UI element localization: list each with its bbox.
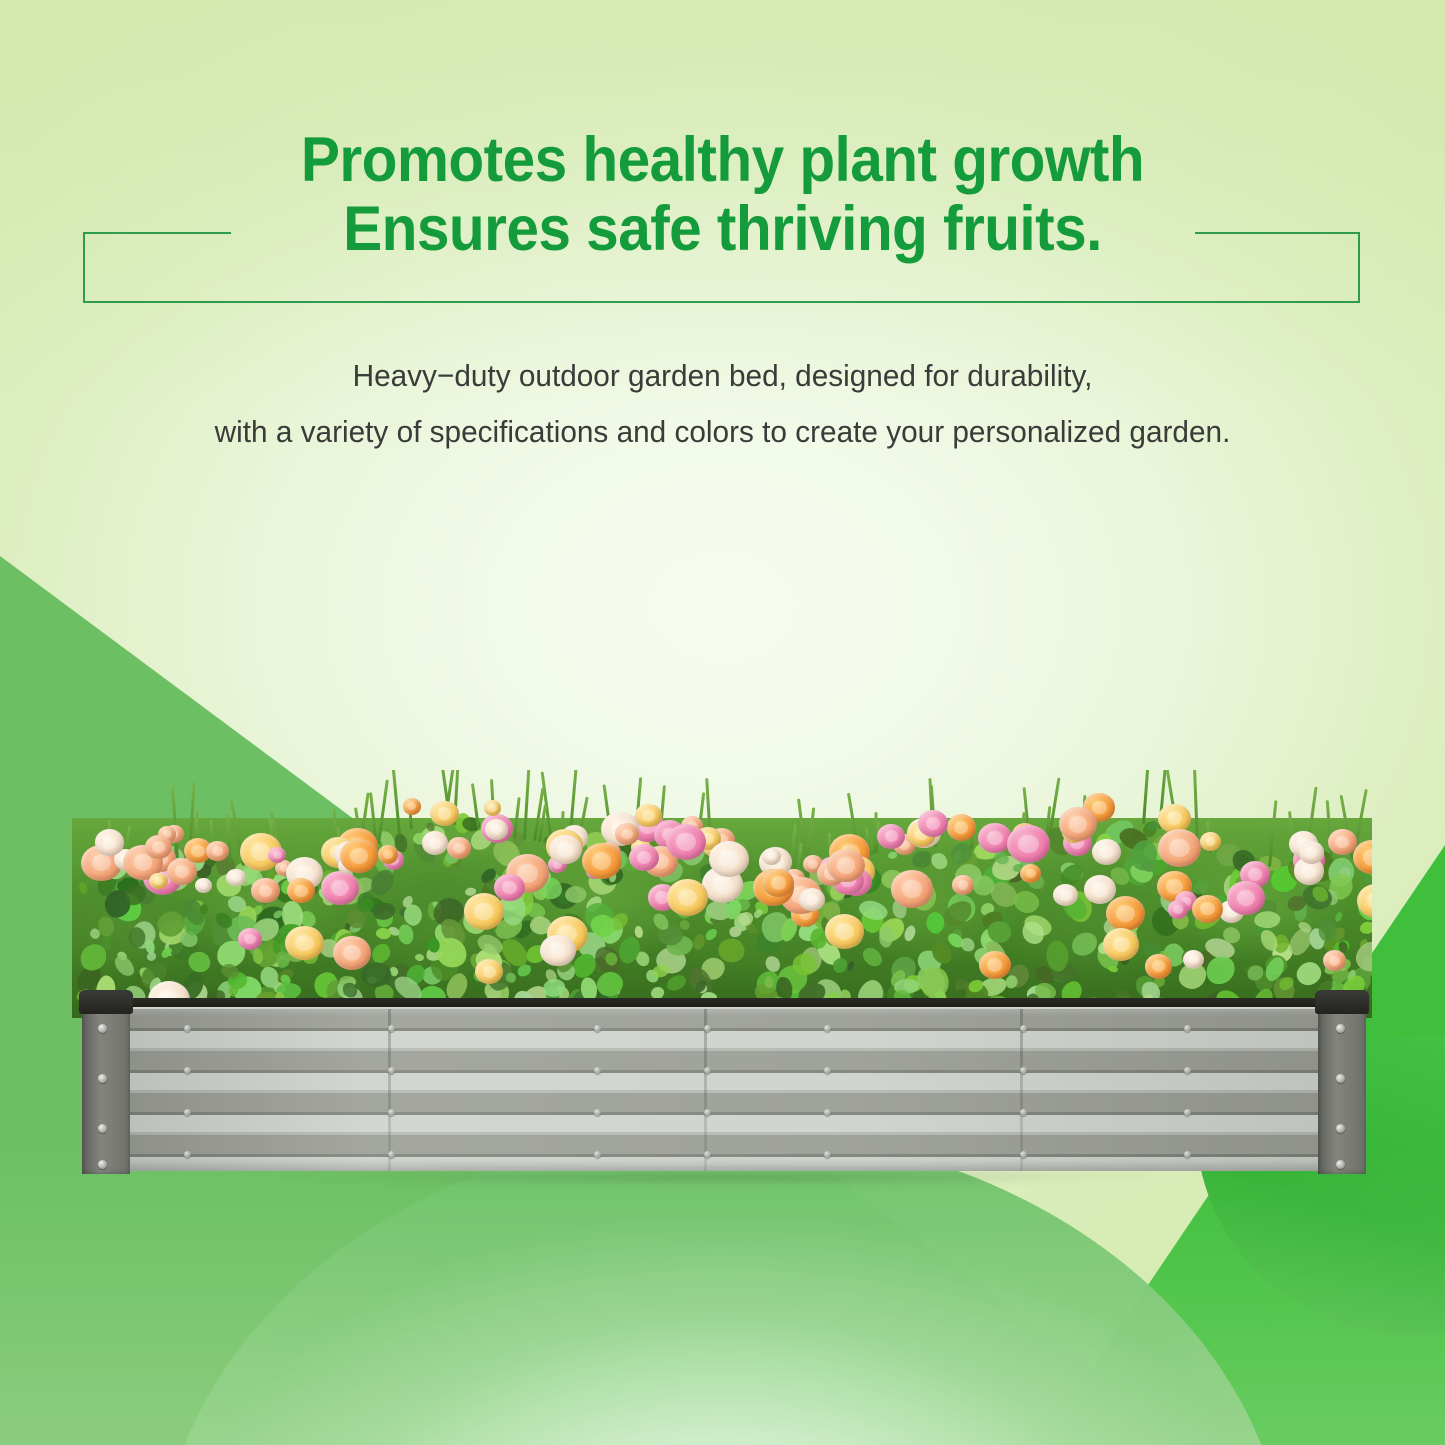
ground-shadow	[134, 1174, 1314, 1200]
screw	[704, 1067, 711, 1074]
rose-bloom	[1007, 825, 1049, 863]
screw	[704, 1109, 711, 1116]
screw	[388, 1067, 395, 1074]
rose-bloom	[1328, 829, 1357, 855]
leaf	[1360, 922, 1372, 934]
panel-seam	[1020, 1009, 1023, 1171]
rose-bloom	[947, 814, 976, 840]
screw	[594, 1025, 601, 1032]
leaf	[506, 973, 516, 983]
screw	[184, 1109, 191, 1116]
screw	[1020, 1151, 1027, 1158]
screw	[1020, 1067, 1027, 1074]
corner-post-left	[82, 1002, 130, 1174]
rose-bloom	[1158, 804, 1190, 833]
screw	[388, 1109, 395, 1116]
screw	[388, 1151, 395, 1158]
rose-foliage	[72, 770, 1372, 1018]
screw	[594, 1151, 601, 1158]
rose-bloom	[1192, 895, 1223, 923]
rose-bloom	[285, 926, 323, 960]
rose-bloom	[206, 841, 229, 862]
rose-bloom	[333, 936, 371, 970]
rose-bloom	[1227, 881, 1264, 915]
screw	[1184, 1151, 1191, 1158]
rose-bloom	[238, 928, 262, 950]
screw	[594, 1109, 601, 1116]
rose-bloom	[799, 888, 825, 911]
leaf	[98, 916, 114, 936]
rose-bloom	[635, 804, 661, 828]
rose-bloom	[1168, 900, 1188, 918]
screw	[824, 1151, 831, 1158]
rose-bloom	[1158, 829, 1200, 867]
screw	[184, 1025, 191, 1032]
rose-bloom	[321, 871, 359, 905]
screw	[1184, 1109, 1191, 1116]
rose-bloom	[666, 824, 707, 861]
rose-bloom	[1106, 896, 1145, 931]
screw	[1184, 1025, 1191, 1032]
product-image	[64, 770, 1381, 1180]
subtitle-line-1: Heavy−duty outdoor garden bed, designed …	[29, 348, 1416, 404]
rose-bloom	[1200, 832, 1221, 850]
rose-bloom	[1084, 875, 1116, 904]
rose-bloom	[540, 935, 575, 967]
rose-bloom	[582, 843, 622, 879]
screw	[1336, 1074, 1345, 1083]
rose-bloom	[667, 879, 708, 916]
leaf	[398, 925, 413, 945]
post-cap-left	[79, 990, 133, 1014]
screw	[1020, 1109, 1027, 1116]
screw	[824, 1025, 831, 1032]
rose-bloom	[287, 878, 315, 903]
panel-seam	[388, 1009, 391, 1171]
rose-bloom	[403, 798, 422, 815]
screw	[184, 1151, 191, 1158]
rose-bloom	[340, 839, 377, 873]
headline-line-1: Promotes healthy plant growth	[301, 125, 1144, 195]
leaf	[427, 938, 439, 953]
stem	[1142, 770, 1151, 824]
rose-bloom	[95, 829, 124, 856]
screw	[98, 1124, 107, 1133]
screw	[1020, 1025, 1027, 1032]
screw	[704, 1025, 711, 1032]
screw	[184, 1067, 191, 1074]
screw	[594, 1067, 601, 1074]
rose-bloom	[251, 878, 279, 904]
corner-post-right	[1318, 1002, 1366, 1174]
screw	[388, 1025, 395, 1032]
rose-bloom	[979, 951, 1011, 980]
headline-block: Promotes healthy plant growth Ensures sa…	[0, 0, 1445, 264]
rose-bloom	[1145, 954, 1172, 979]
banner-canvas: Promotes healthy plant growth Ensures sa…	[0, 0, 1445, 1445]
screw	[824, 1067, 831, 1074]
corrugated-panel	[90, 1009, 1356, 1171]
rose-bloom	[615, 823, 639, 845]
screw	[1184, 1067, 1191, 1074]
rose-bloom	[484, 800, 502, 816]
screw	[1336, 1124, 1345, 1133]
headline: Promotes healthy plant growth Ensures sa…	[51, 0, 1395, 264]
rose-bloom	[149, 873, 167, 889]
rose-bloom	[494, 874, 525, 902]
panel-seam	[704, 1009, 707, 1171]
leaf	[635, 926, 643, 938]
screw	[98, 1024, 107, 1033]
rose-bloom	[827, 849, 864, 883]
garden-bed	[64, 998, 1381, 1180]
rose-bloom	[485, 819, 508, 840]
frame-edge-bottom	[83, 301, 1360, 303]
screw	[824, 1109, 831, 1116]
rose-bloom	[1092, 839, 1121, 865]
screw	[1336, 1024, 1345, 1033]
rose-bloom	[430, 801, 458, 827]
rose-bloom	[952, 875, 974, 894]
screw	[98, 1074, 107, 1083]
post-cap-right	[1315, 990, 1369, 1014]
rose-bloom	[1103, 928, 1139, 960]
rose-bloom	[464, 893, 504, 929]
rose-bloom	[825, 914, 864, 949]
rose-bloom	[447, 837, 471, 858]
rose-bloom	[891, 870, 933, 908]
rose-bloom	[378, 845, 398, 863]
screw	[704, 1151, 711, 1158]
rose-bloom	[1299, 841, 1324, 863]
rose-bloom	[762, 869, 793, 897]
screw	[98, 1160, 107, 1169]
rose-bloom	[709, 841, 749, 877]
leaf	[679, 919, 690, 930]
headline-line-2: Ensures safe thriving fruits.	[51, 195, 1395, 264]
subtitle-line-2: with a variety of specifications and col…	[29, 404, 1416, 460]
screw	[1336, 1160, 1345, 1169]
rose-bloom	[1020, 864, 1041, 883]
rose-bloom	[877, 824, 905, 849]
rose-bloom	[226, 869, 245, 886]
subtitle: Heavy−duty outdoor garden bed, designed …	[29, 348, 1416, 460]
